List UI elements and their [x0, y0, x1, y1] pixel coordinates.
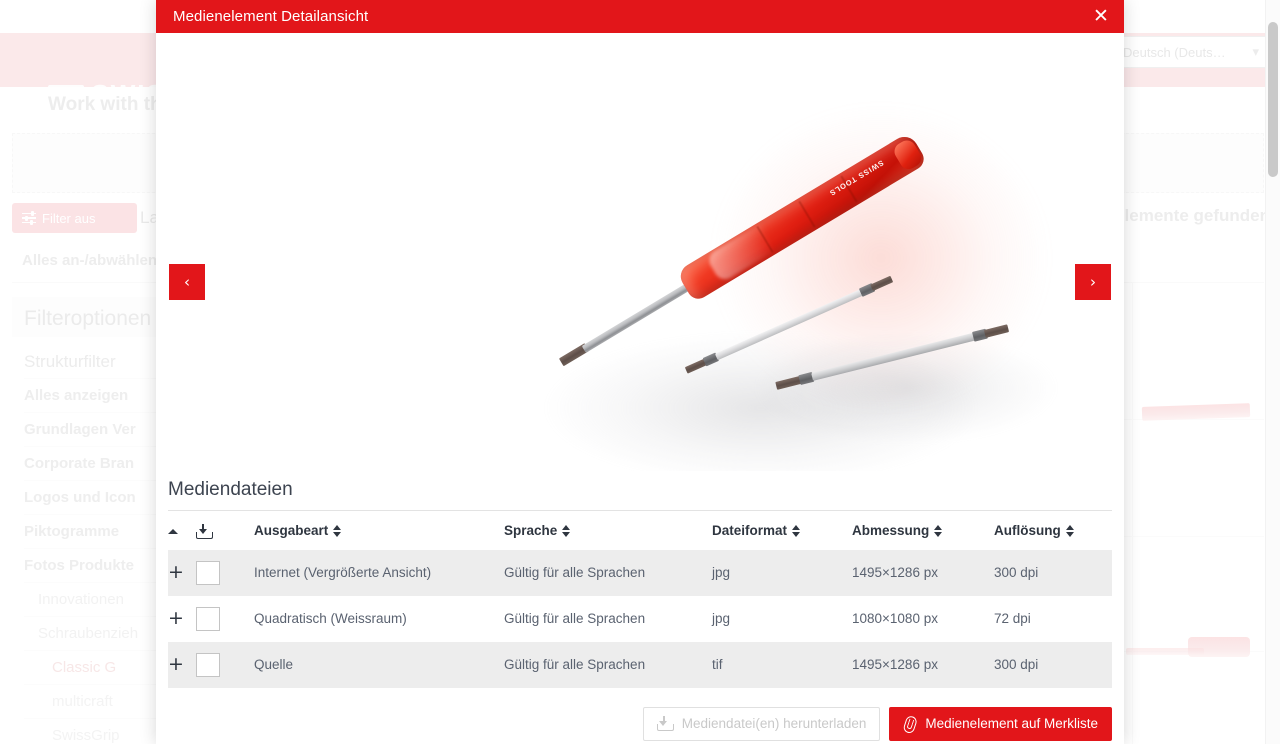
cell-abmessung: 1495×1286 px: [852, 550, 994, 596]
modal-actions: Mediendatei(en) herunterladen Medienelem…: [168, 688, 1112, 741]
paperclip-icon: [901, 715, 919, 734]
language-selector-value: Deutsch (Deuts…: [1123, 45, 1226, 60]
cell-ausgabeart: Quadratisch (Weissraum): [254, 596, 504, 642]
filter-list-item[interactable]: Classic G: [24, 651, 169, 685]
row-select-cell[interactable]: [196, 642, 254, 688]
background-grid-line: [1132, 283, 1133, 744]
sliders-icon: [22, 213, 36, 224]
media-preview-stage: SWISS TOOLS: [156, 33, 1124, 471]
modal-title: Medienelement Detailansicht: [173, 8, 368, 25]
add-to-watchlist-button[interactable]: Medienelement auf Merkliste: [889, 707, 1112, 741]
plus-icon: +: [168, 563, 184, 582]
cell-aufloesung: 300 dpi: [994, 550, 1112, 596]
filter-list-item[interactable]: Corporate Bran: [24, 447, 169, 481]
plus-icon: +: [168, 655, 184, 674]
column-label: Ausgabeart: [254, 523, 328, 538]
column-header-ausgabeart[interactable]: Ausgabeart: [254, 511, 504, 550]
column-label: Dateiformat: [712, 523, 787, 538]
download-files-button[interactable]: Mediendatei(en) herunterladen: [643, 707, 881, 741]
row-expand-button[interactable]: +: [168, 642, 196, 688]
cell-aufloesung: 72 dpi: [994, 596, 1112, 642]
cell-abmessung: 1080×1080 px: [852, 596, 994, 642]
previous-media-button[interactable]: ‹: [169, 264, 205, 300]
filter-toggle-label: Filter aus: [42, 211, 95, 226]
media-detail-modal: Medienelement Detailansicht ✕: [156, 0, 1124, 744]
caret-up-icon: [168, 529, 178, 534]
row-checkbox[interactable]: [196, 653, 220, 677]
cell-ausgabeart: Quelle: [254, 642, 504, 688]
column-label: Abmessung: [852, 523, 929, 538]
download-icon: [657, 716, 674, 731]
column-expand-all[interactable]: [168, 511, 196, 550]
filter-list-item[interactable]: Logos und Icon: [24, 481, 169, 515]
column-header-abmessung[interactable]: Abmessung: [852, 511, 994, 550]
filter-list-item[interactable]: Alles anzeigen: [24, 379, 169, 413]
row-checkbox[interactable]: [196, 561, 220, 585]
next-media-button[interactable]: ›: [1075, 264, 1111, 300]
sort-icon: [333, 525, 342, 538]
screen: PBSWISS TOOLS Deutsch (Deuts… ▾ Work wit…: [0, 0, 1280, 744]
column-label: Auflösung: [994, 523, 1061, 538]
chevron-down-icon: ▾: [1252, 44, 1259, 60]
table-row[interactable]: + Quadratisch (Weissraum) Gültig für all…: [168, 596, 1112, 642]
filter-list-item[interactable]: Piktogramme: [24, 515, 169, 549]
close-icon[interactable]: ✕: [1078, 0, 1124, 33]
filter-list-item[interactable]: SwissGrip: [24, 719, 169, 744]
scrollbar-thumb[interactable]: [1268, 22, 1278, 177]
filter-list-item[interactable]: Schraubenzieh: [24, 617, 169, 651]
sort-icon: [792, 525, 801, 538]
background-thumbnail[interactable]: [1126, 648, 1204, 655]
background-tagline: Work with the: [48, 94, 172, 116]
row-expand-button[interactable]: +: [168, 596, 196, 642]
filter-list: Strukturfilter Alles anzeigen Grundlagen…: [24, 345, 169, 744]
sort-icon: [562, 525, 571, 538]
filter-list-item[interactable]: Grundlagen Ver: [24, 413, 169, 447]
filter-list-item[interactable]: multicraft: [24, 685, 169, 719]
cell-dateiformat: jpg: [712, 596, 852, 642]
row-select-cell[interactable]: [196, 596, 254, 642]
plus-icon: +: [168, 609, 184, 628]
sort-icon: [1066, 525, 1075, 538]
table-row[interactable]: + Quelle Gültig für alle Sprachen tif 14…: [168, 642, 1112, 688]
row-select-cell[interactable]: [196, 550, 254, 596]
filter-list-item[interactable]: Innovationen: [24, 583, 169, 617]
page-scrollbar[interactable]: [1265, 0, 1280, 744]
modal-header: Medienelement Detailansicht ✕: [156, 0, 1124, 33]
cell-sprache: Gültig für alle Sprachen: [504, 596, 712, 642]
cell-aufloesung: 300 dpi: [994, 642, 1112, 688]
column-label: Sprache: [504, 523, 557, 538]
select-all-toggle[interactable]: Alles an-/abwählen: [22, 252, 157, 269]
filter-toggle-button[interactable]: Filter aus: [12, 203, 137, 233]
column-header-sprache[interactable]: Sprache: [504, 511, 712, 550]
media-files-section: Mediendateien: [156, 471, 1124, 744]
row-checkbox[interactable]: [196, 607, 220, 631]
cell-dateiformat: jpg: [712, 550, 852, 596]
cell-ausgabeart: Internet (Vergrößerte Ansicht): [254, 550, 504, 596]
media-files-table: Ausgabeart Sprache Dateiformat Abmessung: [168, 511, 1112, 688]
background-grid-line: [1124, 536, 1264, 537]
table-header: Ausgabeart Sprache Dateiformat Abmessung: [168, 511, 1112, 550]
filter-options-title: Filteroptionen: [24, 307, 151, 331]
product-photo: SWISS TOOLS: [156, 33, 1124, 471]
media-files-title: Mediendateien: [168, 471, 1112, 511]
table-row[interactable]: + Internet (Vergrößerte Ansicht) Gültig …: [168, 550, 1112, 596]
cell-abmessung: 1495×1286 px: [852, 642, 994, 688]
sort-icon: [934, 525, 943, 538]
row-expand-button[interactable]: +: [168, 550, 196, 596]
table-body: + Internet (Vergrößerte Ansicht) Gültig …: [168, 550, 1112, 688]
column-header-aufloesung[interactable]: Auflösung: [994, 511, 1112, 550]
download-files-label: Mediendatei(en) herunterladen: [682, 716, 867, 731]
modal-body: SWISS TOOLS: [156, 33, 1124, 744]
background-results-count: Elemente gefunden: [1113, 206, 1270, 226]
column-download-all[interactable]: [196, 511, 254, 550]
column-header-dateiformat[interactable]: Dateiformat: [712, 511, 852, 550]
filter-list-item[interactable]: Strukturfilter: [24, 345, 169, 379]
cell-sprache: Gültig für alle Sprachen: [504, 550, 712, 596]
cell-dateiformat: tif: [712, 642, 852, 688]
filter-list-item[interactable]: Fotos Produkte: [24, 549, 169, 583]
cell-sprache: Gültig für alle Sprachen: [504, 642, 712, 688]
add-to-watchlist-label: Medienelement auf Merkliste: [925, 716, 1098, 731]
download-icon: [196, 524, 213, 539]
table-header-row: Ausgabeart Sprache Dateiformat Abmessung: [168, 511, 1112, 550]
